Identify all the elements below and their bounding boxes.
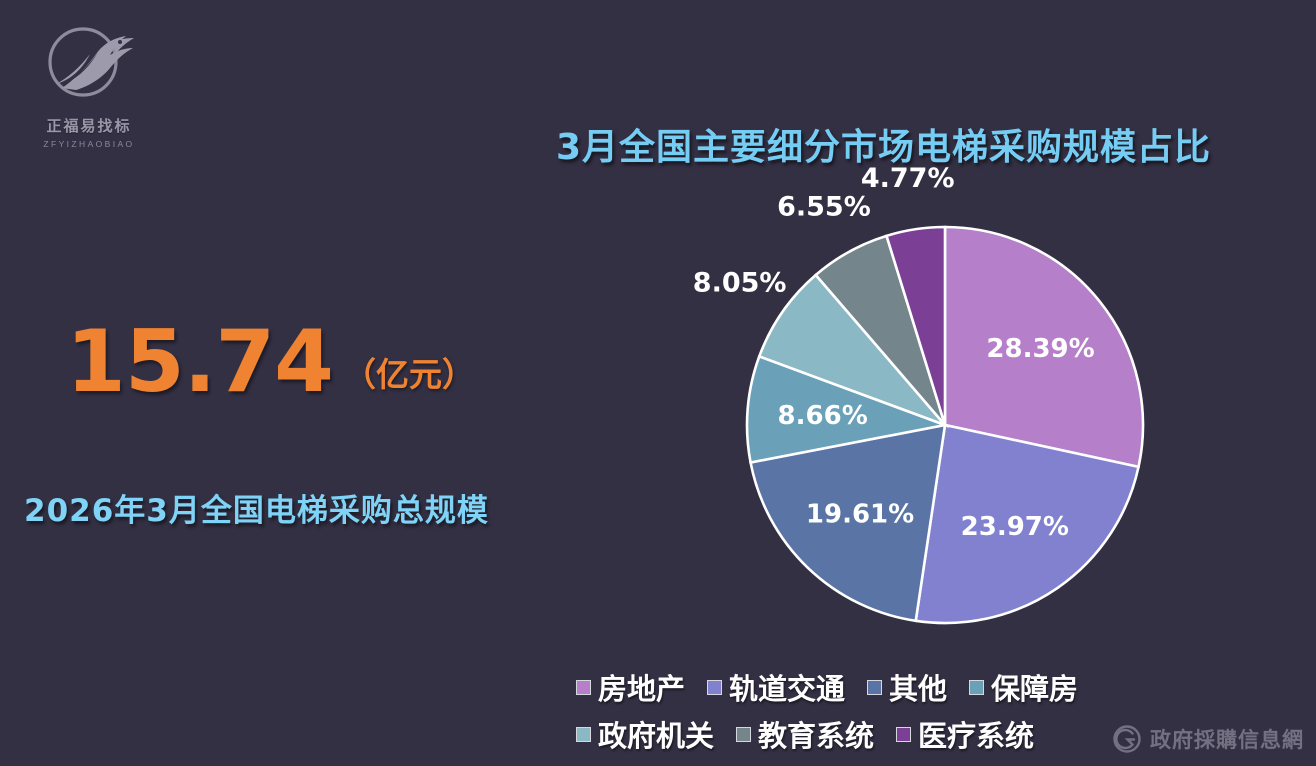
pie-chart: 28.39%23.97%19.61%8.66%8.05%6.55%4.77% — [700, 185, 1220, 645]
legend-label: 轨道交通 — [729, 666, 845, 708]
pie-chart-svg: 28.39%23.97%19.61%8.66%8.05%6.55%4.77% — [700, 185, 1220, 645]
legend-row-1: 房地产轨道交通其他保障房 — [576, 666, 1196, 708]
legend-swatch — [896, 727, 911, 742]
pie-slice-label: 19.61% — [806, 500, 914, 530]
pie-slice-label: 28.39% — [986, 334, 1094, 364]
legend-item[interactable]: 其他 — [867, 666, 947, 708]
legend-label: 教育系统 — [758, 713, 874, 755]
chart-legend: 房地产轨道交通其他保障房 政府机关教育系统医疗系统 — [576, 666, 1196, 760]
circle-g-logo-icon — [1112, 724, 1142, 754]
legend-label: 医疗系统 — [918, 713, 1034, 755]
legend-item[interactable]: 轨道交通 — [707, 666, 845, 708]
legend-label: 政府机关 — [598, 713, 714, 755]
legend-row-2: 政府机关教育系统医疗系统 — [576, 713, 1196, 755]
legend-item[interactable]: 房地产 — [576, 666, 685, 708]
legend-swatch — [969, 680, 984, 695]
watermark: 政府採購信息網 — [1112, 724, 1304, 754]
legend-swatch — [867, 680, 882, 695]
pie-slice-label: 23.97% — [961, 512, 1069, 542]
legend-label: 保障房 — [991, 666, 1078, 708]
brand-name-en: ZFYIZHAOBIAO — [22, 139, 156, 149]
infographic-root: 正福易找标 ZFYIZHAOBIAO 15.74 （亿元） 2026年3月全国电… — [0, 0, 1316, 766]
legend-label: 其他 — [889, 666, 947, 708]
legend-swatch — [736, 727, 751, 742]
stat-value: 15.74 — [66, 323, 333, 402]
legend-item[interactable]: 保障房 — [969, 666, 1078, 708]
stat-caption: 2026年3月全国电梯采购总规模 — [24, 485, 489, 530]
legend-item[interactable]: 政府机关 — [576, 713, 714, 755]
legend-item[interactable]: 医疗系统 — [896, 713, 1034, 755]
total-scale-stat: 15.74 （亿元） — [66, 323, 475, 402]
stat-unit: （亿元） — [343, 348, 475, 396]
watermark-text: 政府採購信息網 — [1150, 724, 1304, 754]
eagle-circle-logo-icon — [34, 22, 144, 108]
brand-name-cn: 正福易找标 — [22, 115, 156, 136]
brand-logo: 正福易找标 ZFYIZHAOBIAO — [22, 22, 182, 152]
legend-label: 房地产 — [598, 666, 685, 708]
pie-slice-label: 4.77% — [861, 163, 955, 194]
pie-slice-label: 8.05% — [693, 267, 787, 298]
pie-slice-label: 8.66% — [778, 401, 868, 431]
legend-swatch — [707, 680, 722, 695]
legend-swatch — [576, 680, 591, 695]
pie-slice-label: 6.55% — [777, 191, 871, 222]
legend-swatch — [576, 727, 591, 742]
legend-item[interactable]: 教育系统 — [736, 713, 874, 755]
